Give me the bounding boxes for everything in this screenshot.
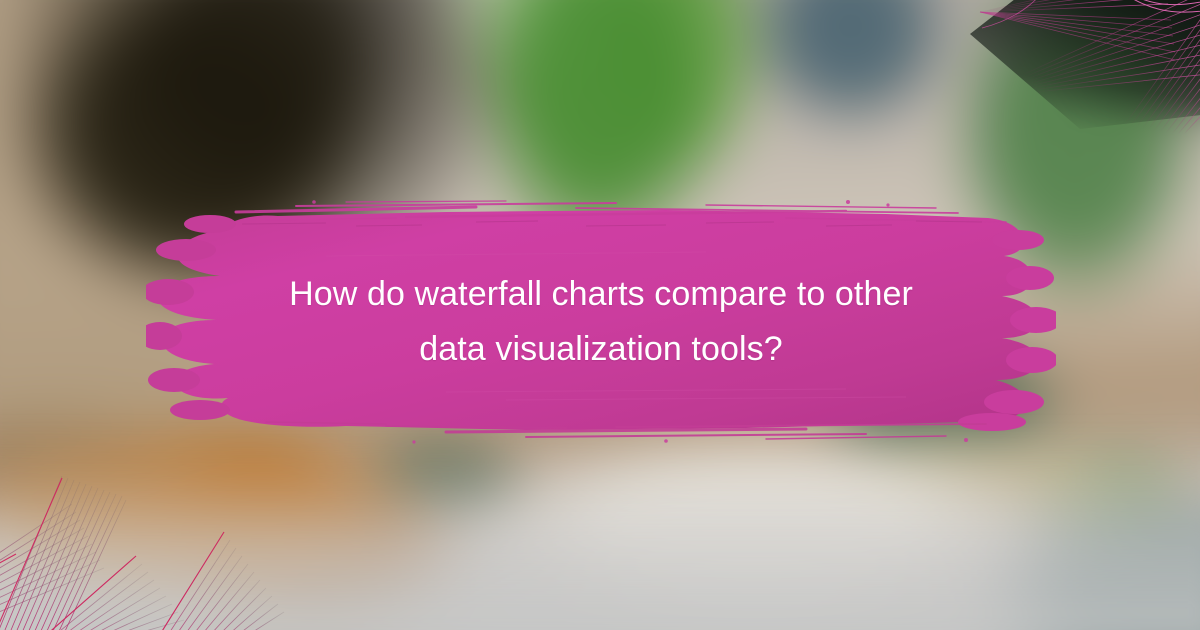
headline-block: How do waterfall charts compare to other… (146, 196, 1056, 448)
share-card-canvas: How do waterfall charts compare to other… (0, 0, 1200, 630)
headline-banner: How do waterfall charts compare to other… (146, 196, 1056, 448)
headline-line-2: data visualization tools? (419, 322, 783, 377)
background-tablecloth-haze (0, 450, 1200, 630)
headline-line-1: How do waterfall charts compare to other (289, 267, 913, 322)
